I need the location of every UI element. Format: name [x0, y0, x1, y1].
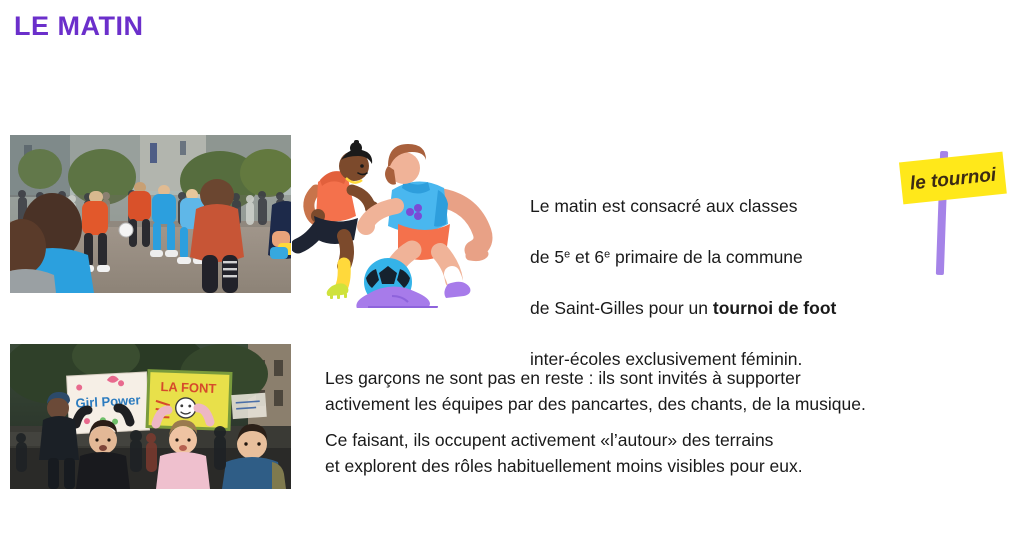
paragraph-roles: Ce faisant, ils occupent activement «l’a…: [325, 428, 985, 479]
paragraph-morning-line3: de Saint-Gilles pour un tournoi de foot: [530, 296, 900, 322]
line2-post: primaire de la commune: [610, 247, 803, 267]
sign-badge-tournoi: le tournoi: [893, 145, 1013, 280]
paragraph-morning-line1: Le matin est consacré aux classes: [530, 194, 900, 220]
sign-badge-artwork: le tournoi: [893, 145, 1013, 280]
illustration-kicker: [356, 144, 484, 308]
photo-supporters-artwork: Girl Power LA FONT: [10, 344, 291, 489]
photo-supporters: Girl Power LA FONT: [10, 344, 291, 489]
illustration-artwork: [292, 128, 520, 308]
photo-tournament: [10, 135, 291, 293]
page-title: LE MATIN: [14, 11, 143, 42]
illustration-footballers: [292, 128, 520, 308]
line2-pre: de 5: [530, 247, 564, 267]
line3-pre: de Saint-Gilles pour un: [530, 298, 713, 318]
slide-root: LE MATIN: [0, 0, 1024, 537]
sign-board: le tournoi: [899, 152, 1007, 205]
photo-tournament-artwork: [10, 135, 291, 293]
paragraph-morning: Le matin est consacré aux classes de 5e …: [530, 168, 900, 398]
paragraph-morning-line2: de 5e et 6e primaire de la commune: [530, 245, 900, 271]
svg-text:LA FONT: LA FONT: [160, 379, 216, 396]
line2-mid: et 6: [570, 247, 604, 267]
line3-bold-tournoi: tournoi de foot: [713, 298, 836, 318]
paragraph-boys: Les garçons ne sont pas en reste : ils s…: [325, 366, 985, 417]
